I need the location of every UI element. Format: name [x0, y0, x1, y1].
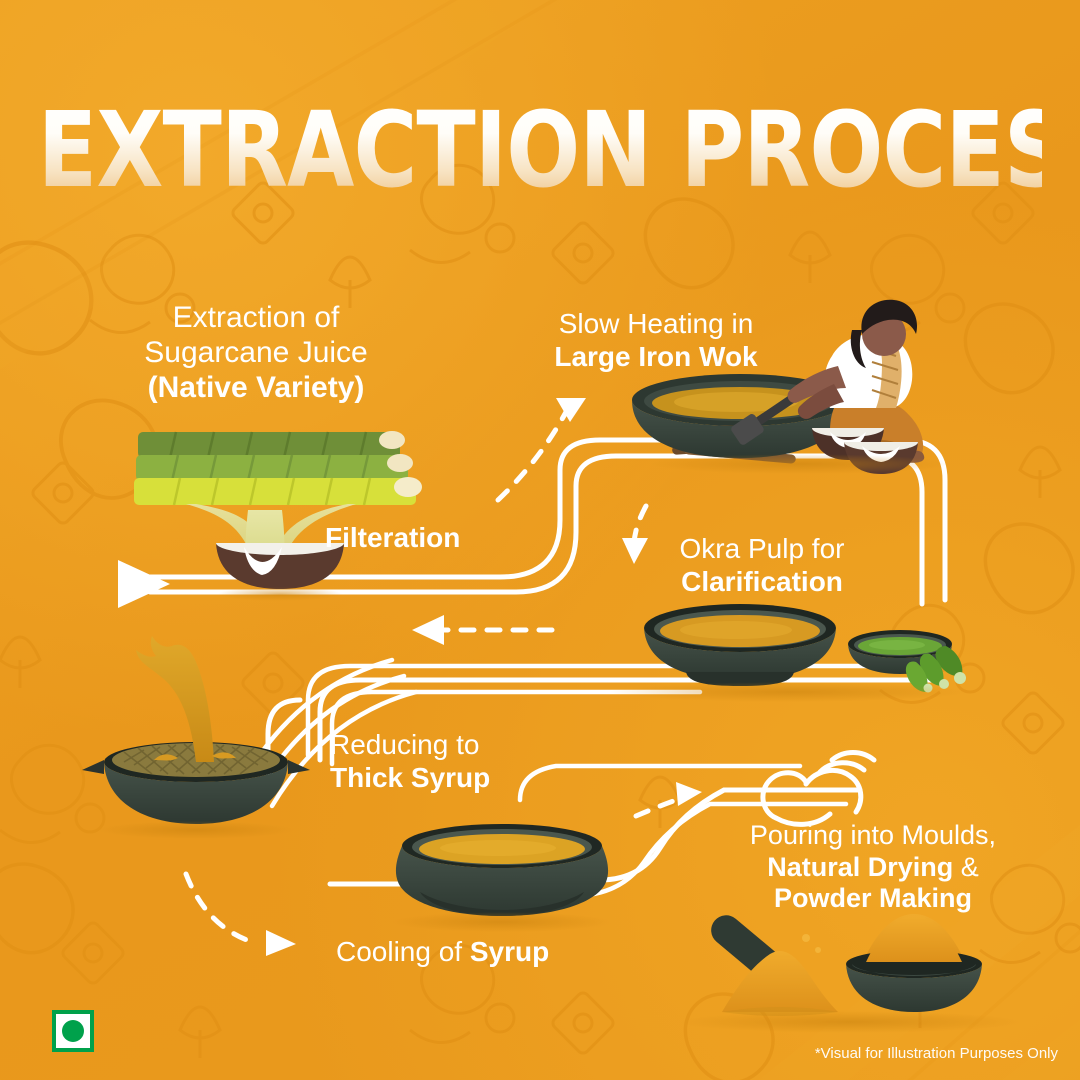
label-cooling-of-syrup: Cooling of Syrup	[336, 936, 549, 969]
worker-figure	[788, 300, 925, 463]
disclaimer-text: *Visual for Illustration Purposes Only	[815, 1045, 1058, 1062]
clay-pots	[812, 428, 918, 474]
label-line-2a: Natural Drying	[767, 852, 953, 882]
powder-making-illustration	[680, 909, 1020, 1033]
hands-icon	[763, 753, 874, 825]
label-line-2: Clarification	[681, 566, 843, 597]
label-line-3: (Native Variety)	[148, 371, 365, 404]
label-line-2: Thick Syrup	[330, 762, 490, 793]
label-line-1: Slow Heating in	[559, 308, 754, 339]
label-part-1: Cooling of	[336, 936, 470, 967]
label-reducing-to-thick-syrup: Reducing to Thick Syrup	[330, 729, 518, 795]
dashed-arrow-right-to-cooling	[186, 874, 296, 956]
page-title: EXTRACTION PROCESS	[38, 98, 1042, 202]
label-line-2b: &	[953, 852, 979, 882]
okra-clarification-illustration	[610, 604, 970, 702]
sugarcane-illustration	[134, 431, 422, 601]
label-line-1: Extraction of	[173, 301, 340, 334]
label-line-1: Okra Pulp for	[680, 533, 845, 564]
label-extraction-of-sugarcane-juice: Extraction of Sugarcane Juice (Native Va…	[110, 300, 402, 405]
label-filteration: Filteration	[325, 522, 460, 555]
label-line-2: Sugarcane Juice	[144, 336, 367, 369]
label-okra-pulp-for-clarification: Okra Pulp for Clarification	[640, 533, 884, 599]
okra-pods	[906, 646, 966, 693]
vegetarian-mark-icon	[52, 1010, 94, 1052]
label-part-2: Syrup	[470, 936, 549, 967]
label-line-1: Pouring into Moulds,	[750, 820, 996, 850]
infographic-canvas: EXTRACTION PROCESS .fl{fill:none;stroke:…	[0, 0, 1080, 1080]
label-pouring-into-moulds: Pouring into Moulds, Natural Drying & Po…	[722, 820, 1024, 915]
label-slow-heating-in-large-iron-wok: Slow Heating in Large Iron Wok	[516, 308, 796, 374]
dashed-arrow-right-to-wok	[498, 398, 586, 500]
dashed-arrow-left-return	[412, 615, 552, 645]
triangle-arrow-left-icon	[118, 560, 170, 608]
label-line-1: Reducing to	[330, 729, 479, 760]
label-line-3: Powder Making	[774, 883, 972, 913]
reducing-syrup-illustration	[82, 636, 310, 839]
dashed-arrow-right-to-powder	[636, 782, 702, 816]
label-line-2: Large Iron Wok	[554, 341, 757, 372]
cooling-pot-illustration	[392, 824, 612, 932]
